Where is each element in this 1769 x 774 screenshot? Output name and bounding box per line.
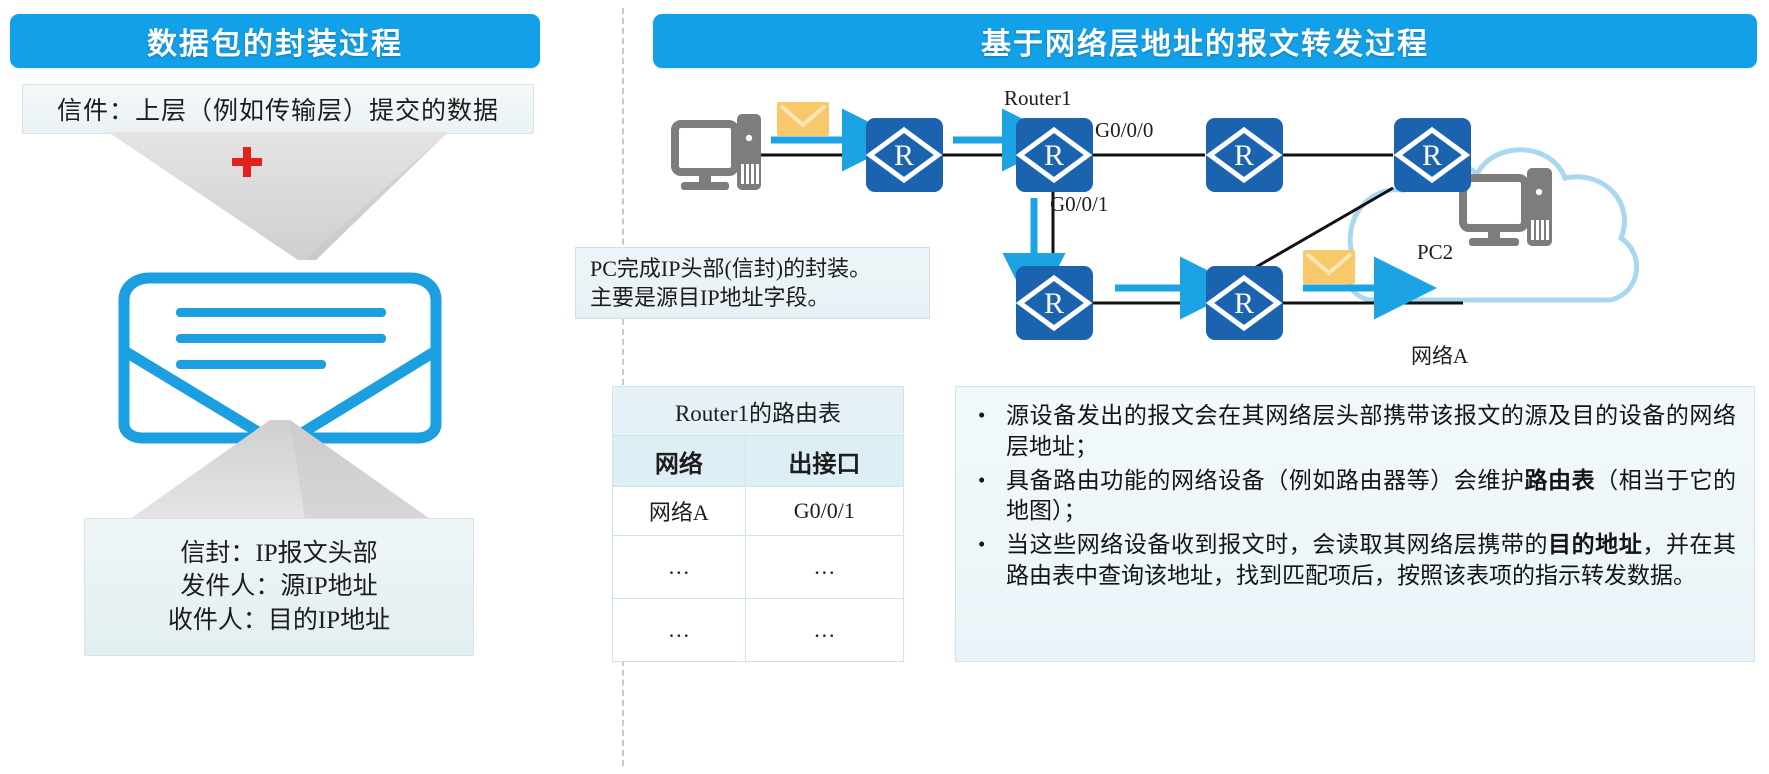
mail-envelope-icon-2 xyxy=(1303,250,1355,284)
table-row: … … xyxy=(613,536,904,599)
svg-text:R: R xyxy=(1234,139,1254,172)
table-title-row: Router1的路由表 xyxy=(613,387,904,436)
bullet-text-0: 源设备发出的报文会在其网络层头部携带该报文的源及目的设备的网络层地址； xyxy=(1006,403,1736,459)
red-cross-icon xyxy=(232,147,262,177)
router-icon-router1: R xyxy=(1016,118,1093,192)
network-topology-diagram: R R R R R R xyxy=(653,78,1757,378)
envelope-line-1: 信封：IP报文头部 xyxy=(180,537,377,570)
cell-network-2: … xyxy=(613,599,746,662)
pc1-icon xyxy=(675,114,761,190)
envelope-description-box: 信封：IP报文头部 发件人：源IP地址 收件人：目的IP地址 xyxy=(84,518,474,656)
cell-network-1: … xyxy=(613,536,746,599)
envelope-line-2: 发件人：源IP地址 xyxy=(180,570,377,603)
funnel-top-shape xyxy=(108,132,448,262)
table-row: … … xyxy=(613,599,904,662)
cell-interface-0: G0/0/1 xyxy=(745,487,903,536)
pc2-label: PC2 xyxy=(1417,240,1453,265)
column-header-network: 网络 xyxy=(613,436,746,487)
cell-interface-1: … xyxy=(745,536,903,599)
routing-table: Router1的路由表 网络 出接口 网络A G0/0/1 … … … … xyxy=(612,386,904,662)
pc1-callout-box: PC完成IP头部(信封)的封装。 主要是源目IP地址字段。 xyxy=(575,247,930,319)
pc1-callout-line-1: PC完成IP头部(信封)的封装。 xyxy=(590,254,929,283)
svg-text:R: R xyxy=(1234,287,1254,320)
right-panel-title: 基于网络层地址的报文转发过程 xyxy=(653,14,1757,68)
router-icon-c: R xyxy=(1206,118,1283,192)
column-header-interface: 出接口 xyxy=(745,436,903,487)
list-item: 源设备发出的报文会在其网络层头部携带该报文的源及目的设备的网络层地址； xyxy=(1006,401,1736,463)
svg-text:R: R xyxy=(1044,139,1064,172)
svg-text:R: R xyxy=(1422,139,1442,172)
explanation-panel: 源设备发出的报文会在其网络层头部携带该报文的源及目的设备的网络层地址； 具备路由… xyxy=(955,386,1755,662)
router-icon-a: R xyxy=(866,118,943,192)
table-row: 网络A G0/0/1 xyxy=(613,487,904,536)
slide-root: 数据包的封装过程 信件：上层（例如传输层）提交的数据 xyxy=(0,0,1769,774)
letter-description-box: 信件：上层（例如传输层）提交的数据 xyxy=(22,84,534,134)
router-icon-d: R xyxy=(1394,118,1471,192)
routing-table-title: Router1的路由表 xyxy=(613,387,904,436)
list-item: 具备路由功能的网络设备（例如路由器等）会维护路由表（相当于它的地图）； xyxy=(1006,466,1736,528)
funnel-bottom-shape xyxy=(120,420,440,528)
router1-label: Router1 xyxy=(1004,86,1072,111)
cloud-network-label: 网络A xyxy=(1411,340,1468,370)
pc1-callout-line-2: 主要是源目IP地址字段。 xyxy=(590,283,929,312)
cell-interface-2: … xyxy=(745,599,903,662)
envelope-graphic-icon xyxy=(110,256,450,446)
left-panel-title: 数据包的封装过程 xyxy=(10,14,540,68)
table-header-row: 网络 出接口 xyxy=(613,436,904,487)
mail-envelope-icon-1 xyxy=(777,102,829,136)
envelope-line-3: 收件人：目的IP地址 xyxy=(168,604,390,637)
list-item: 当这些网络设备收到报文时，会读取其网络层携带的目的地址，并在其路由表中查询该地址… xyxy=(1006,530,1736,592)
router-icon-f: R xyxy=(1206,266,1283,340)
svg-text:R: R xyxy=(1044,287,1064,320)
router-icon-e: R xyxy=(1016,266,1093,340)
bullet-text-2: 当这些网络设备收到报文时，会读取其网络层携带的目的地址，并在其路由表中查询该地址… xyxy=(1006,532,1736,588)
interface-label-g000: G0/0/0 xyxy=(1095,118,1153,143)
cell-network-0: 网络A xyxy=(613,487,746,536)
explanation-list: 源设备发出的报文会在其网络层头部携带该报文的源及目的设备的网络层地址； 具备路由… xyxy=(964,401,1736,592)
interface-label-g001: G0/0/1 xyxy=(1050,192,1108,217)
svg-text:R: R xyxy=(894,139,914,172)
bullet-text-1: 具备路由功能的网络设备（例如路由器等）会维护路由表（相当于它的地图）； xyxy=(1006,468,1736,524)
